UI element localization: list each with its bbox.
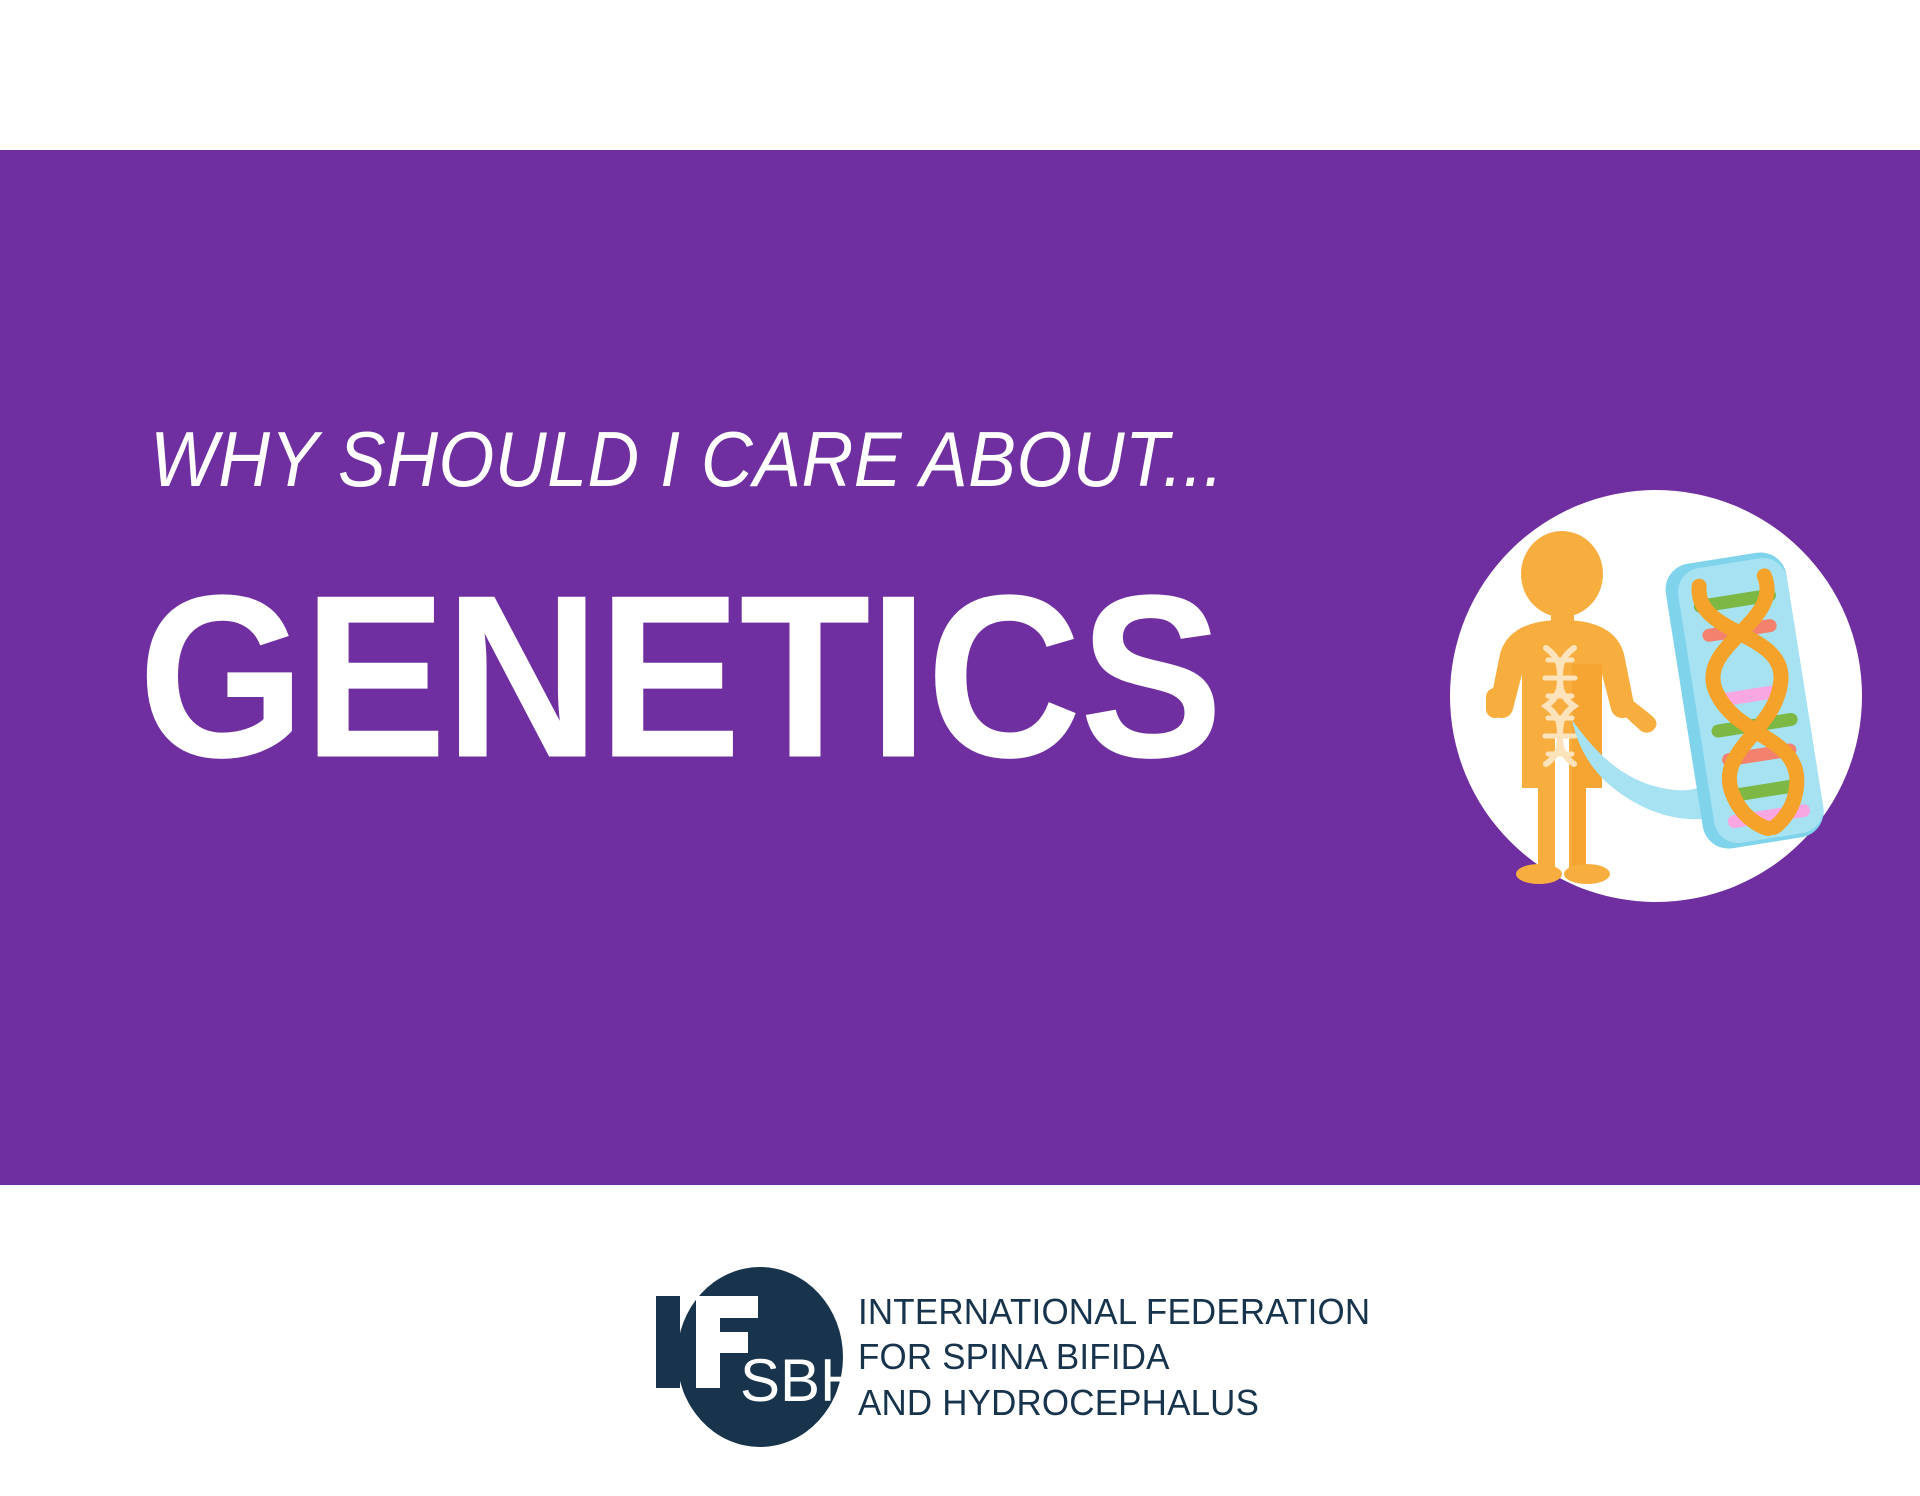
logo-line-3: AND HYDROCEPHALUS bbox=[858, 1380, 1370, 1425]
headline-block: WHY SHOULD I CARE ABOUT... GENETICS bbox=[150, 420, 1390, 775]
page-title: GENETICS bbox=[138, 560, 1390, 792]
logo-line-2: FOR SPINA BIFIDA bbox=[858, 1334, 1370, 1379]
logo-wordmark: INTERNATIONAL FEDERATION FOR SPINA BIFID… bbox=[858, 1289, 1386, 1425]
eyebrow-text: WHY SHOULD I CARE ABOUT... bbox=[150, 420, 1291, 498]
logo-mark: SBH bbox=[652, 1264, 848, 1450]
ifsbh-logo: SBH INTERNATIONAL FEDERATION FOR SPINA B… bbox=[652, 1262, 1272, 1452]
logo-line-1: INTERNATIONAL FEDERATION bbox=[858, 1289, 1370, 1334]
logo-letter-i bbox=[656, 1296, 680, 1388]
logo-letters-sbh: SBH bbox=[740, 1347, 848, 1414]
slide-canvas: WHY SHOULD I CARE ABOUT... GENETICS bbox=[0, 0, 1920, 1496]
genetics-illustration bbox=[1448, 488, 1864, 904]
